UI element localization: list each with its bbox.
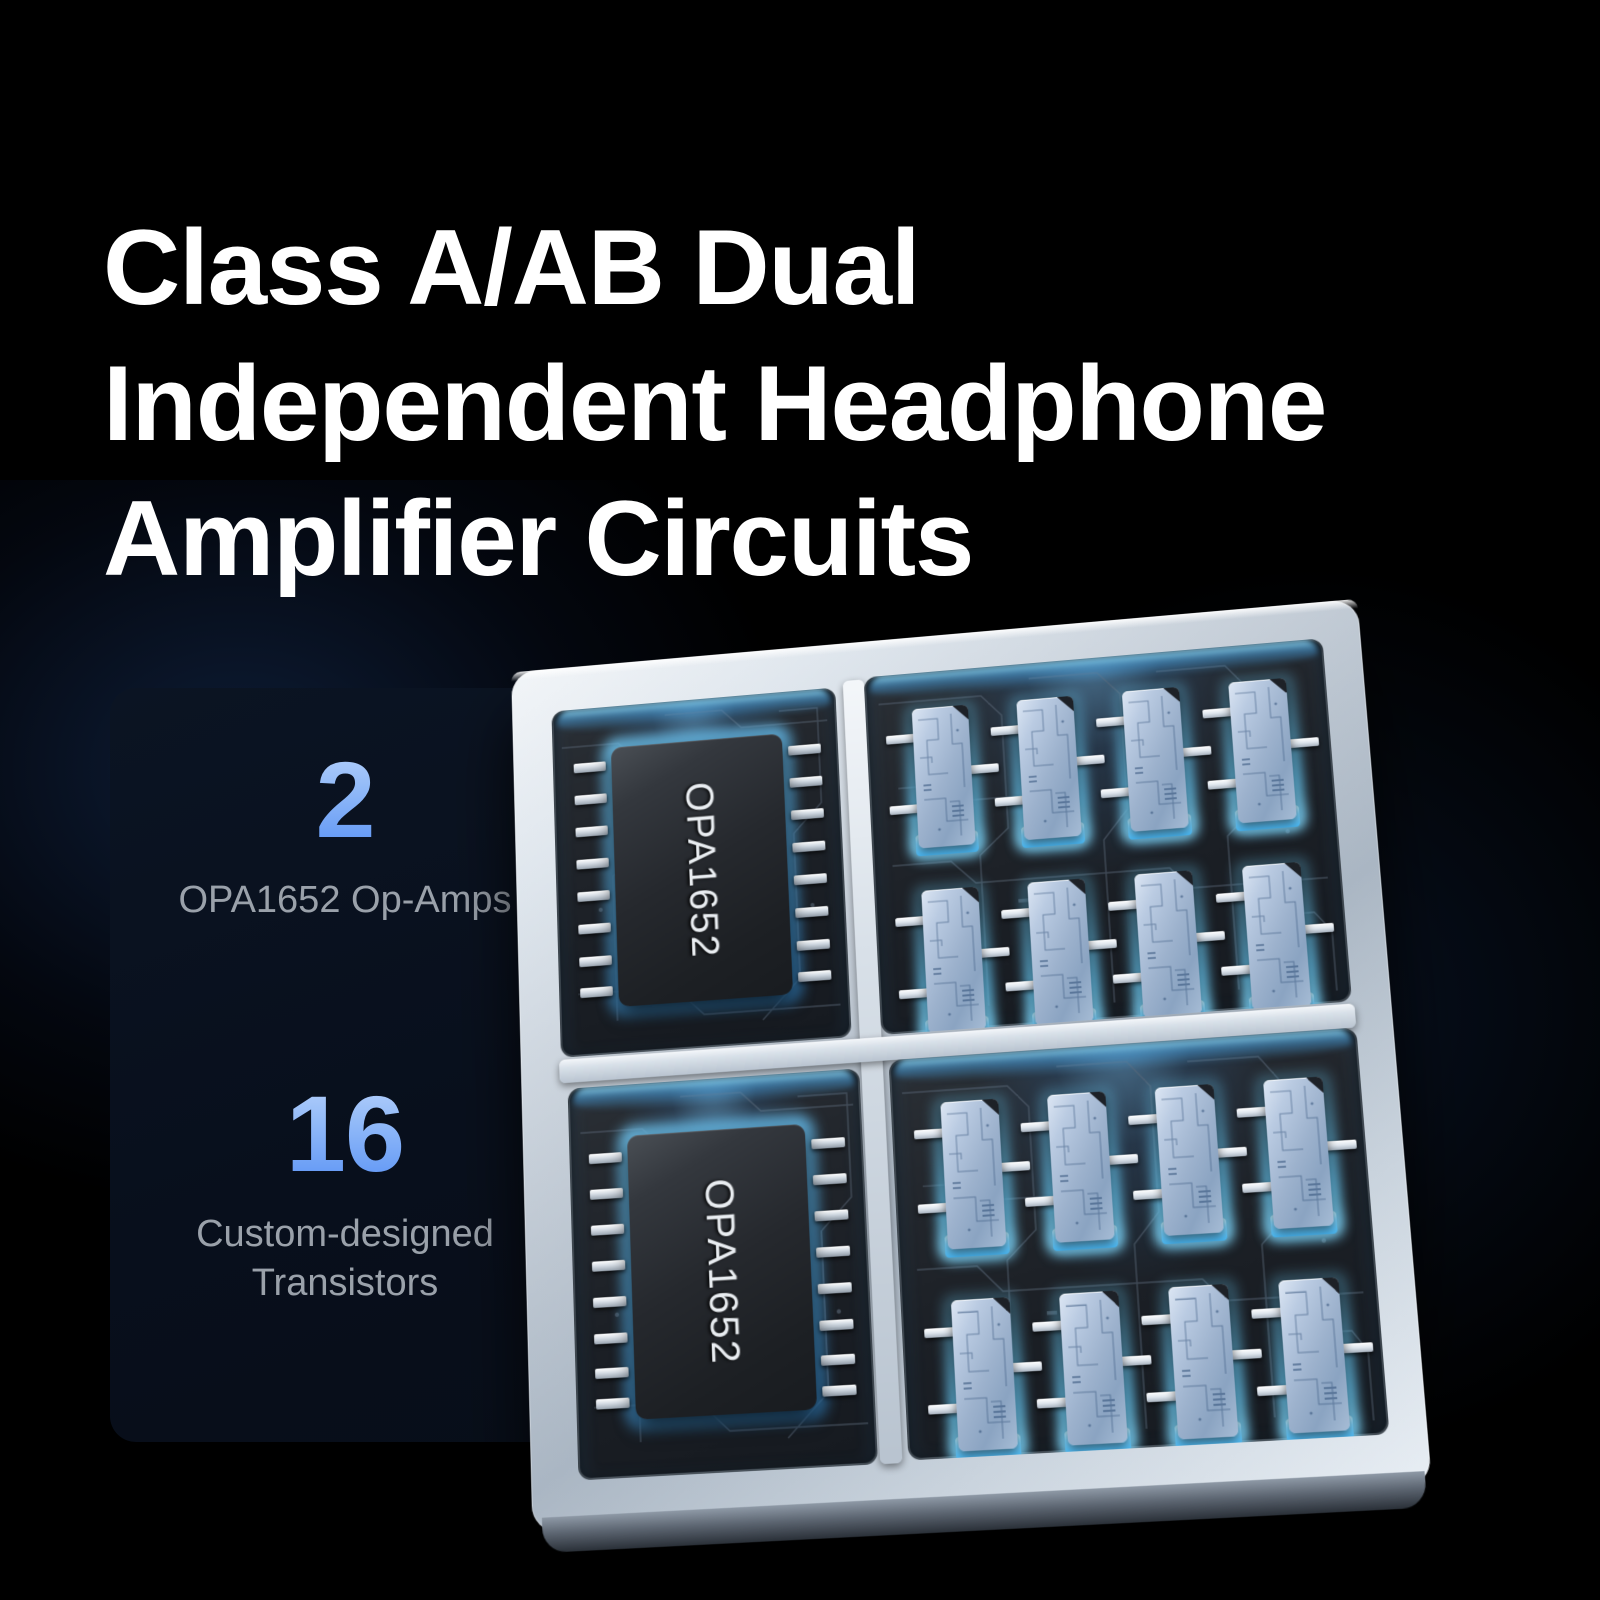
op-amp-body: OPA1652 <box>627 1124 817 1420</box>
transistor-top <box>1228 678 1297 823</box>
quadrant-top-left: OPA1652 <box>551 687 851 1057</box>
transistor-block <box>1228 678 1297 823</box>
op-amp-chip-2: OPA1652 <box>627 1124 817 1420</box>
transistor-top <box>1016 696 1081 840</box>
page-title: Class A/AB Dual Independent Headphone Am… <box>103 200 1523 608</box>
headline-line-1: Class A/AB Dual <box>103 200 1523 336</box>
transistor-block <box>1027 878 1093 1026</box>
transistor-chamfer <box>952 705 968 721</box>
transistor-block <box>1168 1284 1238 1440</box>
transistor-chamfer <box>962 887 979 904</box>
transistor-chamfer <box>1057 696 1074 713</box>
transistor-top <box>921 887 986 1034</box>
transistor-block <box>921 887 986 1034</box>
transistor-top <box>1122 687 1189 832</box>
transistor-top <box>1059 1290 1128 1445</box>
transistor-chamfer <box>1176 870 1193 887</box>
transistor-lead <box>924 1327 955 1338</box>
transistor-lead <box>1251 1308 1283 1319</box>
transistor-chamfer <box>1163 687 1180 704</box>
transistor-block <box>1122 687 1189 832</box>
transistor-top <box>912 705 976 849</box>
headline-line-2: Independent Headphone <box>103 336 1523 472</box>
transistor-block <box>1059 1290 1128 1445</box>
transistor-chamfer <box>1270 678 1287 695</box>
amplifier-chip-illustration: OPA1652 <box>455 560 1555 1570</box>
op-amp-body: OPA1652 <box>611 733 793 1006</box>
transistor-chamfer <box>1069 878 1086 895</box>
transistor-top <box>1168 1284 1238 1440</box>
op-amp-chip-1: OPA1652 <box>611 733 793 1006</box>
transistor-block <box>1016 696 1081 840</box>
transistor-block <box>912 705 976 849</box>
op-amp-chip-1-label: OPA1652 <box>676 780 726 960</box>
transistor-top <box>1027 878 1093 1026</box>
chip-module: OPA1652 <box>511 599 1432 1533</box>
transistor-lead <box>1303 923 1334 934</box>
poster-canvas: Class A/AB Dual Independent Headphone Am… <box>0 0 1600 1600</box>
